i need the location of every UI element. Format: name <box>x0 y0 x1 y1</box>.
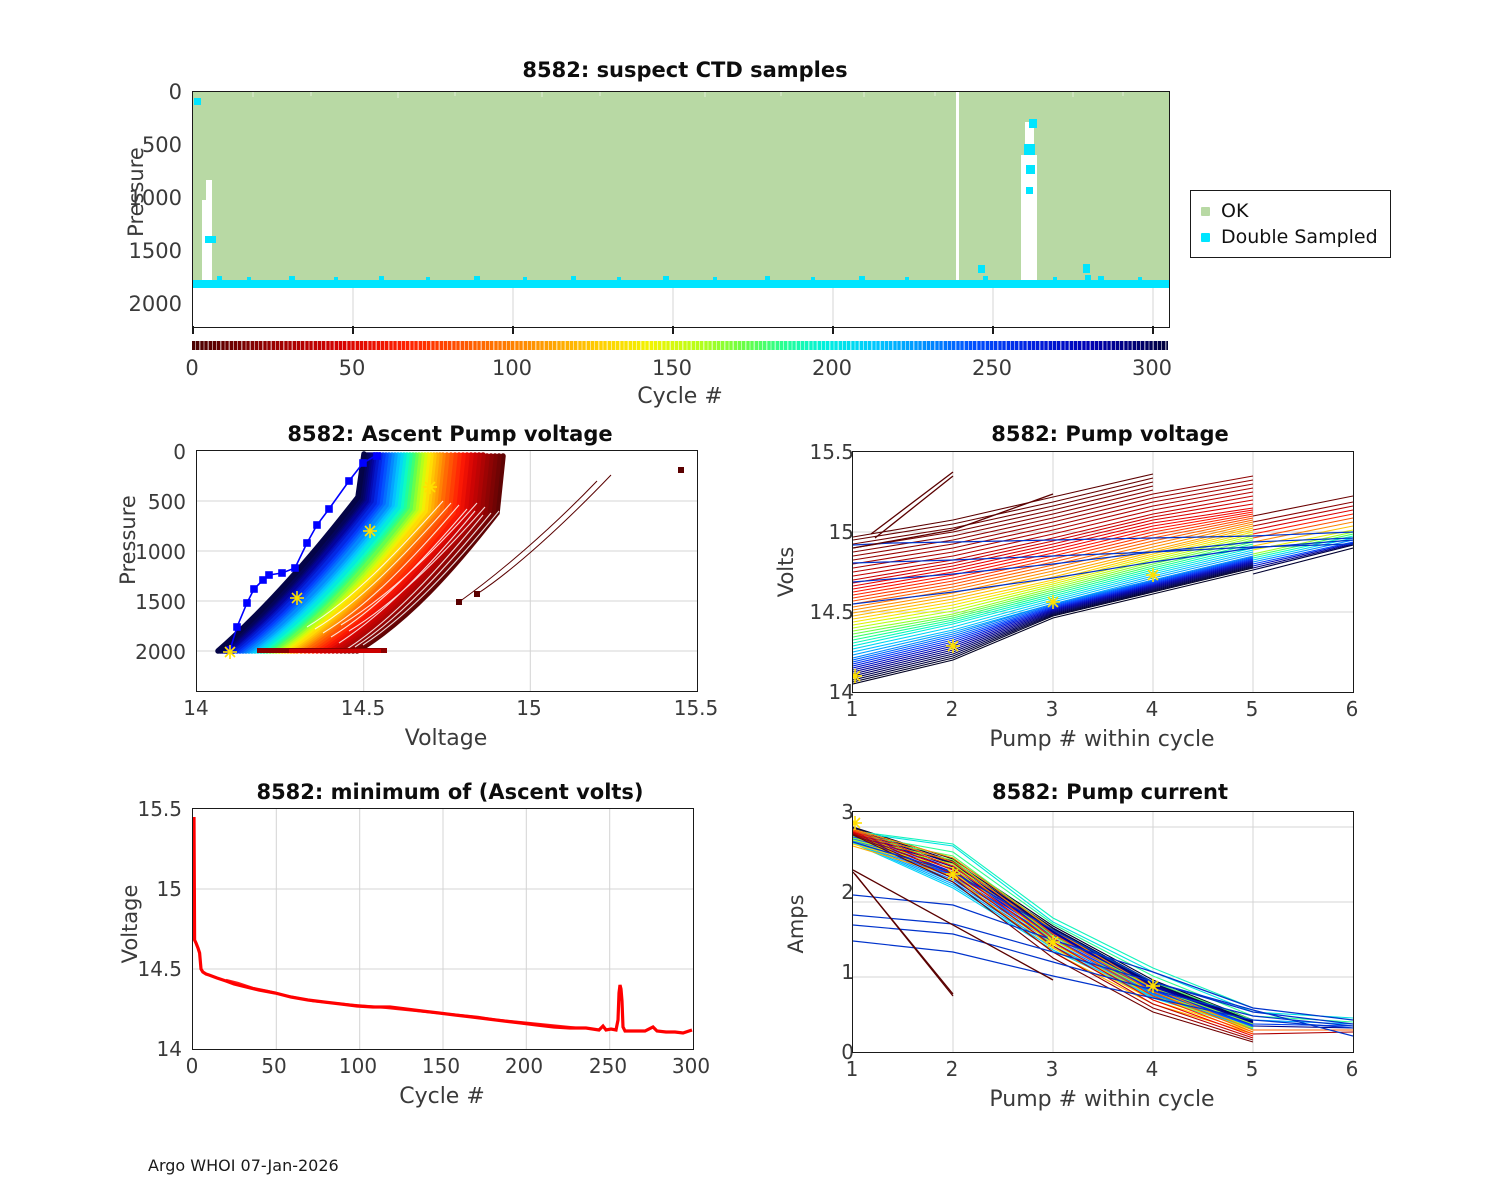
legend-swatch-double-sampled <box>1201 233 1210 242</box>
pump-voltage-xtick-5: 5 <box>1212 697 1292 721</box>
pump-current-ytick-2: 2 <box>796 880 854 904</box>
suspect-ctd-xtick-mark-50 <box>352 326 354 334</box>
ascent-xtick-14-5: 14.5 <box>323 696 403 720</box>
pump-current-xtick-1: 1 <box>812 1057 892 1081</box>
pump-current-xlabel: Pump # within cycle <box>932 1087 1272 1112</box>
pump-current-title: 8582: Pump current <box>860 780 1360 804</box>
suspect-ctd-xtick-mark-150 <box>672 326 674 334</box>
suspect-ctd-xtick-150: 150 <box>632 356 712 380</box>
ascent-ytick-1500: 1500 <box>118 590 186 614</box>
suspect-ctd-canvas <box>193 92 1169 327</box>
pump-current-xtick-4: 4 <box>1112 1057 1192 1081</box>
suspect-ctd-xtick-100: 100 <box>472 356 552 380</box>
min-ascent-volts-xlabel: Cycle # <box>322 1084 562 1109</box>
min-volts-ytick-14-5: 14.5 <box>110 957 182 981</box>
figure-footer: Argo WHOI 07-Jan-2026 <box>148 1156 339 1175</box>
pump-voltage-canvas <box>853 452 1353 692</box>
min-ascent-volts-plot-area <box>192 808 694 1050</box>
pump-voltage-xtick-3: 3 <box>1012 697 1092 721</box>
pump-voltage-xtick-1: 1 <box>812 697 892 721</box>
legend-swatch-ok <box>1201 207 1210 216</box>
pump-current-plot-area <box>852 811 1354 1053</box>
suspect-ctd-ytick-500: 500 <box>110 133 182 157</box>
ascent-xtick-14: 14 <box>156 696 236 720</box>
cycle-colormap-speckle <box>192 341 1168 350</box>
suspect-ctd-xtick-250: 250 <box>952 356 1032 380</box>
min-volts-xtick-200: 200 <box>484 1054 564 1078</box>
min-volts-xtick-250: 250 <box>568 1054 648 1078</box>
min-volts-xtick-0: 0 <box>152 1054 232 1078</box>
pump-voltage-xtick-4: 4 <box>1112 697 1192 721</box>
ascent-ytick-2000: 2000 <box>118 640 186 664</box>
pump-current-ytick-3: 3 <box>796 800 854 824</box>
pump-voltage-ytick-15: 15 <box>788 520 854 544</box>
ascent-pump-voltage-plot-area <box>196 450 698 692</box>
legend-item-ok[interactable]: OK <box>1201 198 1378 224</box>
legend-item-double-sampled[interactable]: Double Sampled <box>1201 224 1378 250</box>
ascent-ytick-0: 0 <box>118 440 186 464</box>
legend-label-double-sampled: Double Sampled <box>1221 226 1378 248</box>
suspect-ctd-xtick-mark-300 <box>1152 326 1154 334</box>
pump-voltage-xtick-6: 6 <box>1312 697 1392 721</box>
ascent-ytick-500: 500 <box>118 490 186 514</box>
suspect-ctd-xtick-300: 300 <box>1112 356 1192 380</box>
suspect-ctd-xtick-mark-200 <box>832 326 834 334</box>
min-ascent-volts-title: 8582: minimum of (Ascent volts) <box>140 780 760 804</box>
pump-voltage-xtick-2: 2 <box>912 697 992 721</box>
pump-current-xtick-6: 6 <box>1312 1057 1392 1081</box>
pump-current-canvas <box>853 812 1353 1052</box>
pump-voltage-ytick-15-5: 15.5 <box>788 440 854 464</box>
pump-current-xtick-5: 5 <box>1212 1057 1292 1081</box>
suspect-ctd-plot-area <box>192 91 1170 328</box>
suspect-ctd-legend[interactable]: OK Double Sampled <box>1190 190 1391 258</box>
suspect-ctd-xlabel: Cycle # <box>540 384 820 409</box>
suspect-ctd-xtick-mark-250 <box>992 326 994 334</box>
min-volts-ytick-15-5: 15.5 <box>110 797 182 821</box>
legend-label-ok: OK <box>1221 200 1248 222</box>
min-volts-xtick-150: 150 <box>401 1054 481 1078</box>
suspect-ctd-xtick-mark-0 <box>192 326 194 334</box>
pump-current-xtick-3: 3 <box>1012 1057 1092 1081</box>
pump-voltage-title: 8582: Pump voltage <box>850 422 1370 446</box>
ascent-pump-voltage-canvas <box>197 451 697 691</box>
suspect-ctd-xtick-50: 50 <box>312 356 392 380</box>
pump-current-ytick-1: 1 <box>796 960 854 984</box>
pump-voltage-plot-area <box>852 451 1354 693</box>
pump-current-xtick-2: 2 <box>912 1057 992 1081</box>
min-volts-xtick-100: 100 <box>318 1054 398 1078</box>
suspect-ctd-xtick-200: 200 <box>792 356 872 380</box>
suspect-ctd-ytick-2000: 2000 <box>110 292 182 316</box>
suspect-ctd-xtick-0: 0 <box>152 356 232 380</box>
ascent-xtick-15-5: 15.5 <box>656 696 736 720</box>
min-volts-xtick-50: 50 <box>234 1054 314 1078</box>
suspect-ctd-ytick-1000: 1000 <box>110 186 182 210</box>
ascent-pump-voltage-xlabel: Voltage <box>326 726 566 751</box>
min-volts-xtick-300: 300 <box>651 1054 731 1078</box>
ascent-ytick-1000: 1000 <box>118 540 186 564</box>
suspect-ctd-xtick-mark-100 <box>512 326 514 334</box>
ascent-pump-voltage-title: 8582: Ascent Pump voltage <box>190 422 710 446</box>
pump-voltage-xlabel: Pump # within cycle <box>932 727 1272 752</box>
suspect-ctd-title: 8582: suspect CTD samples <box>200 58 1170 82</box>
suspect-ctd-ytick-0: 0 <box>110 80 182 104</box>
min-volts-ytick-15: 15 <box>110 877 182 901</box>
ascent-xtick-15: 15 <box>489 696 569 720</box>
suspect-ctd-ytick-1500: 1500 <box>110 239 182 263</box>
min-ascent-volts-canvas <box>193 809 693 1049</box>
pump-voltage-ytick-14-5: 14.5 <box>788 600 854 624</box>
